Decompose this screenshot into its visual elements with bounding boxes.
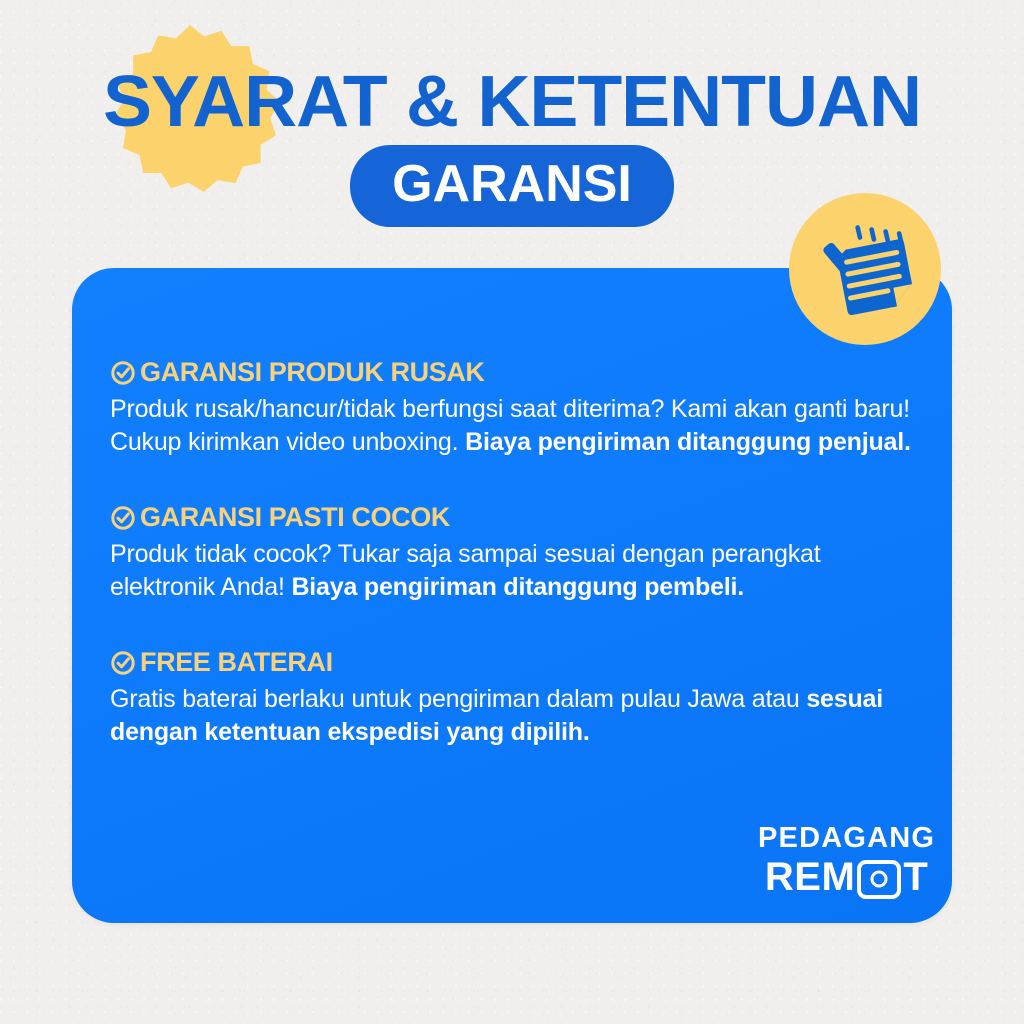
remote-o-icon <box>857 860 901 899</box>
section-heading-text: GARANSI PRODUK RUSAK <box>140 356 485 388</box>
terms-section: FREE BATERAI Gratis baterai berlaku untu… <box>110 646 930 749</box>
section-body: Gratis baterai berlaku untuk pengiriman … <box>110 683 920 749</box>
terms-content: GARANSI PRODUK RUSAK Produk rusak/hancur… <box>110 356 930 749</box>
page-subtitle-pill: GARANSI <box>350 145 674 227</box>
section-body-normal: Gratis baterai berlaku untuk pengiriman … <box>110 685 806 713</box>
section-body: Produk rusak/hancur/tidak berfungsi saat… <box>110 393 920 459</box>
check-circle-icon <box>110 360 136 386</box>
section-body: Produk tidak cocok? Tukar saja sampai se… <box>110 538 920 604</box>
section-body-bold: Biaya pengiriman ditanggung pembeli. <box>291 573 744 601</box>
brand-logo-t: T <box>903 856 928 898</box>
section-body-bold: Biaya pengiriman ditanggung penjual. <box>465 428 911 456</box>
brand-logo-rem: REM <box>765 856 855 898</box>
notepad-pencil-icon <box>789 193 941 345</box>
section-heading-row: FREE BATERAI <box>110 646 930 678</box>
brand-logo: PEDAGANG REM T <box>758 823 935 898</box>
section-heading-row: GARANSI PASTI COCOK <box>110 501 930 533</box>
brand-logo-line1: PEDAGANG <box>758 823 935 854</box>
check-circle-icon <box>110 650 136 676</box>
check-circle-icon <box>110 505 136 531</box>
page-title: SYARAT & KETENTUAN <box>0 62 1024 142</box>
section-heading-text: GARANSI PASTI COCOK <box>140 501 450 533</box>
section-heading-text: FREE BATERAI <box>140 646 333 678</box>
terms-section: GARANSI PRODUK RUSAK Produk rusak/hancur… <box>110 356 930 459</box>
terms-section: GARANSI PASTI COCOK Produk tidak cocok? … <box>110 501 930 604</box>
section-heading-row: GARANSI PRODUK RUSAK <box>110 356 930 388</box>
brand-logo-line2: REM T <box>758 856 935 898</box>
